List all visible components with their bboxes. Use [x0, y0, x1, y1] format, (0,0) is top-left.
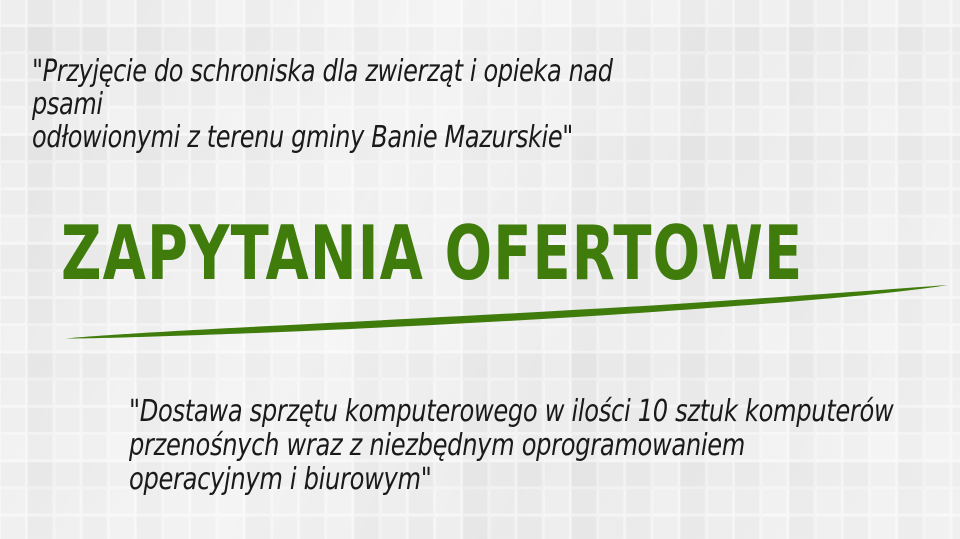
slide-canvas: "Przyjęcie do schroniska dla zwierząt i … — [0, 0, 960, 539]
page-title: ZAPYTANIA OFERTOWE — [61, 216, 803, 291]
top-quote-text: "Przyjęcie do schroniska dla zwierząt i … — [32, 55, 672, 154]
bottom-quote-text: "Dostawa sprzętu komputerowego w ilości … — [129, 395, 960, 497]
